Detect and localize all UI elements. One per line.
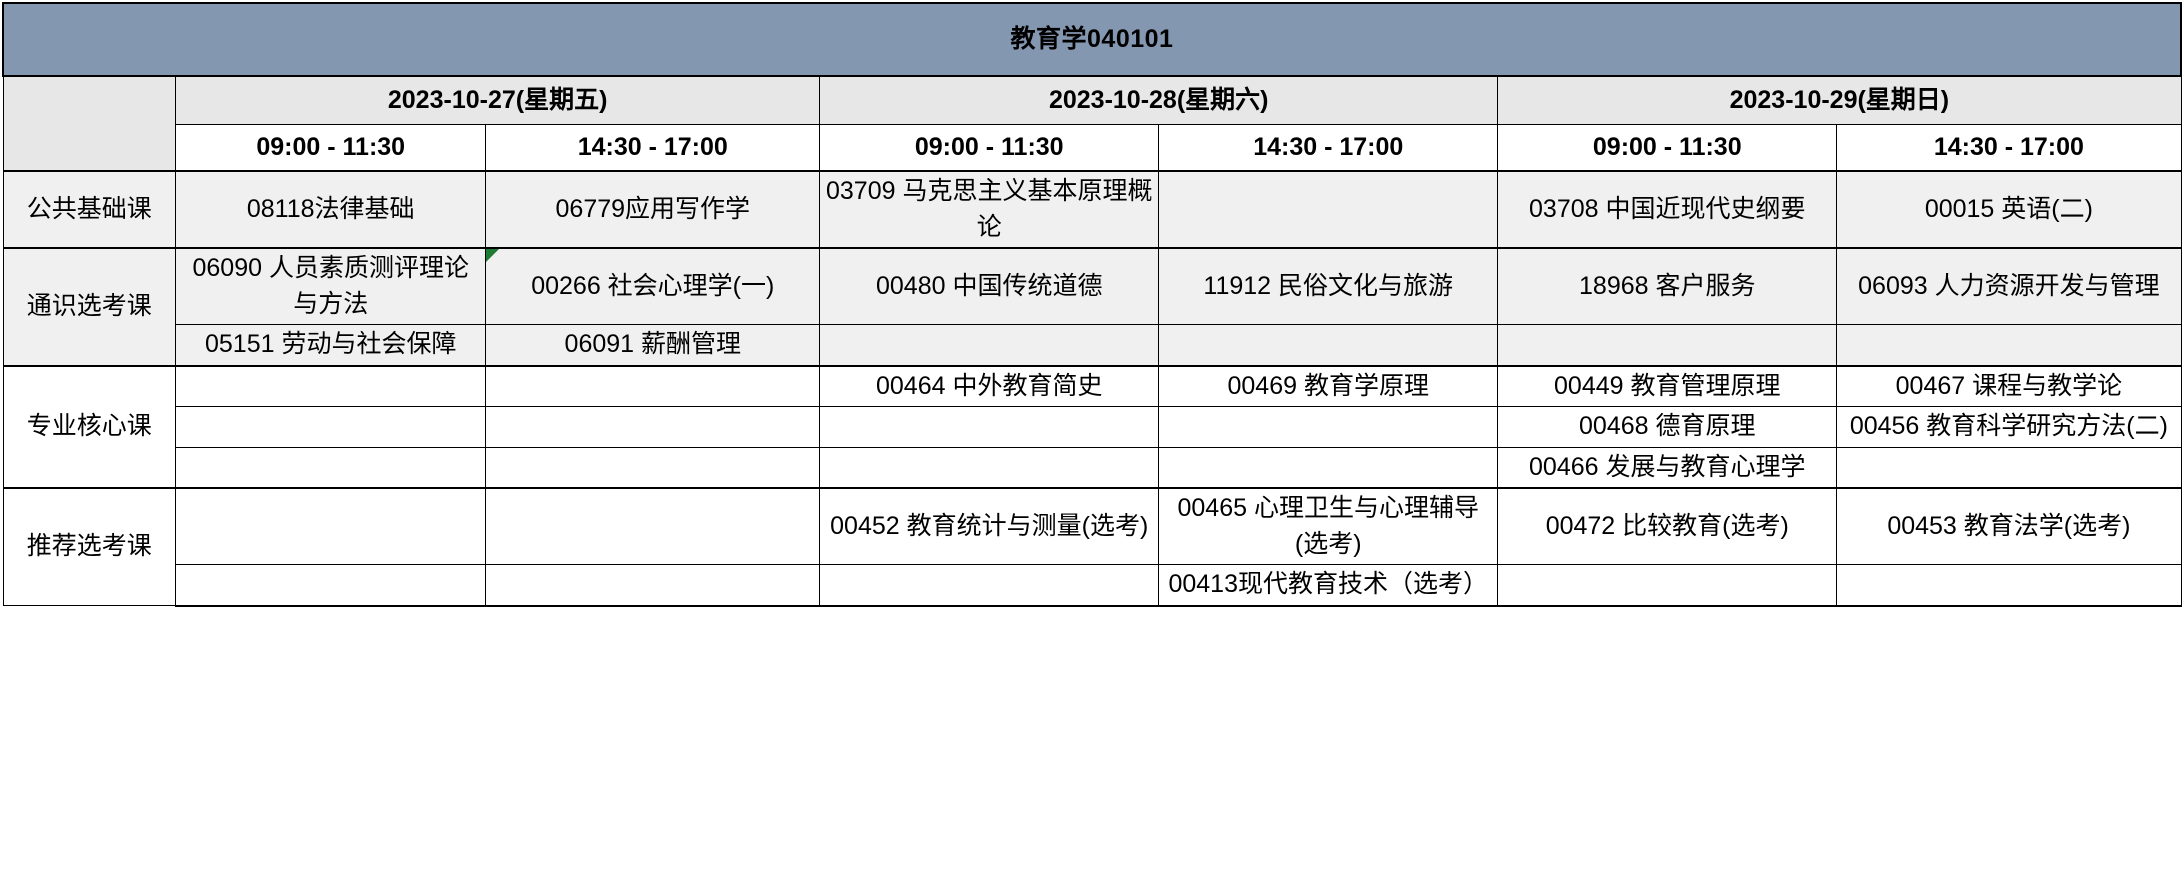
category-label-1: 公共基础课	[3, 171, 176, 248]
course-cell[interactable]	[1498, 325, 1837, 366]
table-corner-cell	[3, 76, 176, 171]
course-cell[interactable]	[486, 565, 820, 606]
course-cell[interactable]: 18968 客户服务	[1498, 248, 1837, 325]
course-cell[interactable]	[820, 325, 1159, 366]
course-cell[interactable]	[176, 565, 486, 606]
course-cell[interactable]: 08118法律基础	[176, 171, 486, 248]
course-cell[interactable]	[176, 447, 486, 488]
course-cell[interactable]: 05151 劳动与社会保障	[176, 325, 486, 366]
course-cell[interactable]	[820, 407, 1159, 448]
course-cell[interactable]	[486, 366, 820, 407]
time-slot-header-6: 14:30 - 17:00	[1837, 124, 2181, 171]
course-cell[interactable]	[486, 407, 820, 448]
course-cell[interactable]: 00266 社会心理学(一)	[486, 248, 820, 325]
course-cell[interactable]: 00469 教育学原理	[1159, 366, 1498, 407]
date-header-2: 2023-10-28(星期六)	[820, 76, 1498, 124]
course-cell[interactable]: 00468 德育原理	[1498, 407, 1837, 448]
spreadsheet-schedule: 教育学0401012023-10-27(星期五)2023-10-28(星期六)2…	[0, 2, 2184, 870]
table-row: 05151 劳动与社会保障06091 薪酬管理	[3, 325, 2181, 366]
table-row: 00413现代教育技术（选考）	[3, 565, 2181, 606]
course-cell[interactable]	[1837, 447, 2181, 488]
course-cell[interactable]: 00467 课程与教学论	[1837, 366, 2181, 407]
category-label-2: 通识选考课	[3, 248, 176, 366]
course-cell[interactable]	[486, 447, 820, 488]
date-header-3: 2023-10-29(星期日)	[1498, 76, 2181, 124]
date-header-1: 2023-10-27(星期五)	[176, 76, 820, 124]
course-cell[interactable]	[1498, 565, 1837, 606]
course-cell[interactable]	[1159, 325, 1498, 366]
course-cell[interactable]: 00452 教育统计与测量(选考)	[820, 488, 1159, 565]
exam-schedule-table: 教育学0401012023-10-27(星期五)2023-10-28(星期六)2…	[2, 2, 2182, 607]
course-cell[interactable]: 00449 教育管理原理	[1498, 366, 1837, 407]
table-row: 专业核心课00464 中外教育简史00469 教育学原理00449 教育管理原理…	[3, 366, 2181, 407]
category-label-3: 专业核心课	[3, 366, 176, 489]
date-header-row: 2023-10-27(星期五)2023-10-28(星期六)2023-10-29…	[3, 76, 2181, 124]
course-cell[interactable]	[1159, 407, 1498, 448]
course-cell[interactable]: 00015 英语(二)	[1837, 171, 2181, 248]
time-header-row: 09:00 - 11:3014:30 - 17:0009:00 - 11:301…	[3, 124, 2181, 171]
time-slot-header-1: 09:00 - 11:30	[176, 124, 486, 171]
table-row: 通识选考课06090 人员素质测评理论与方法00266 社会心理学(一)0048…	[3, 248, 2181, 325]
course-cell[interactable]	[176, 488, 486, 565]
table-row: 推荐选考课00452 教育统计与测量(选考)00465 心理卫生与心理辅导(选考…	[3, 488, 2181, 565]
table-row: 00468 德育原理00456 教育科学研究方法(二)	[3, 407, 2181, 448]
course-cell[interactable]: 00466 发展与教育心理学	[1498, 447, 1837, 488]
course-cell[interactable]: 06090 人员素质测评理论与方法	[176, 248, 486, 325]
course-cell[interactable]: 00480 中国传统道德	[820, 248, 1159, 325]
course-cell[interactable]	[486, 488, 820, 565]
course-cell[interactable]: 03708 中国近现代史纲要	[1498, 171, 1837, 248]
time-slot-header-5: 09:00 - 11:30	[1498, 124, 1837, 171]
table-row: 00466 发展与教育心理学	[3, 447, 2181, 488]
course-cell[interactable]: 11912 民俗文化与旅游	[1159, 248, 1498, 325]
course-cell[interactable]	[1159, 447, 1498, 488]
table-row: 公共基础课08118法律基础06779应用写作学03709 马克思主义基本原理概…	[3, 171, 2181, 248]
course-cell[interactable]: 00464 中外教育简史	[820, 366, 1159, 407]
course-cell[interactable]	[176, 407, 486, 448]
time-slot-header-3: 09:00 - 11:30	[820, 124, 1159, 171]
comment-marker-icon	[486, 249, 499, 262]
course-cell[interactable]: 00472 比较教育(选考)	[1498, 488, 1837, 565]
page-title: 教育学040101	[3, 3, 2181, 76]
course-cell[interactable]	[820, 447, 1159, 488]
course-cell[interactable]: 06091 薪酬管理	[486, 325, 820, 366]
course-cell[interactable]	[1159, 171, 1498, 248]
title-row: 教育学040101	[3, 3, 2181, 76]
time-slot-header-2: 14:30 - 17:00	[486, 124, 820, 171]
course-cell[interactable]: 00413现代教育技术（选考）	[1159, 565, 1498, 606]
course-cell[interactable]: 06779应用写作学	[486, 171, 820, 248]
course-cell[interactable]	[820, 565, 1159, 606]
course-cell[interactable]	[1837, 565, 2181, 606]
course-cell[interactable]: 00465 心理卫生与心理辅导(选考)	[1159, 488, 1498, 565]
category-label-4: 推荐选考课	[3, 488, 176, 606]
course-cell[interactable]	[1837, 325, 2181, 366]
time-slot-header-4: 14:30 - 17:00	[1159, 124, 1498, 171]
course-cell[interactable]: 03709 马克思主义基本原理概论	[820, 171, 1159, 248]
course-cell[interactable]: 00456 教育科学研究方法(二)	[1837, 407, 2181, 448]
course-cell[interactable]: 00453 教育法学(选考)	[1837, 488, 2181, 565]
course-cell[interactable]: 06093 人力资源开发与管理	[1837, 248, 2181, 325]
course-cell[interactable]	[176, 366, 486, 407]
